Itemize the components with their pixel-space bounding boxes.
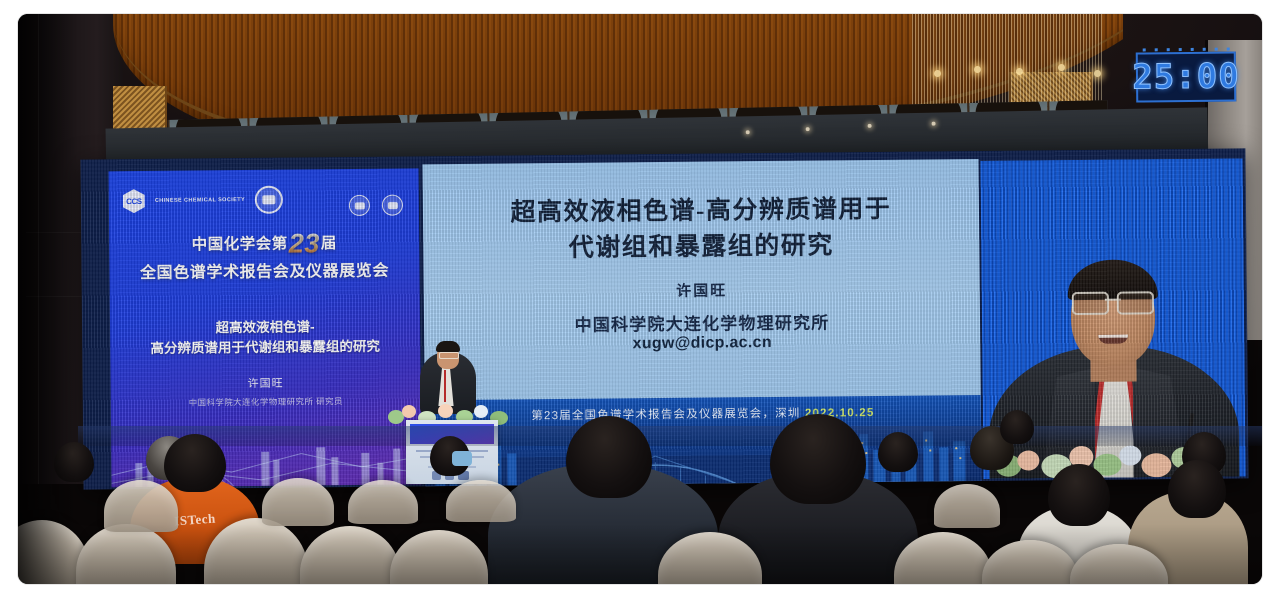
- audience-head: [1000, 410, 1034, 444]
- audience-head: [164, 434, 226, 492]
- audience-foreground: ISTech: [18, 404, 1262, 584]
- seat-back: [348, 480, 418, 524]
- timer-led-dots: [1138, 47, 1234, 51]
- audience-head: [878, 432, 918, 472]
- slide-title-line-1: 超高效液相色谱-高分辨质谱用于: [441, 191, 961, 231]
- image-frame: CCS Chinese Chemical Society 中国化学会第23届 全…: [0, 0, 1280, 598]
- conference-photograph: CCS Chinese Chemical Society 中国化学会第23届 全…: [18, 14, 1262, 584]
- institute-seal-icon: [382, 195, 403, 216]
- seat-back: [446, 480, 516, 522]
- poster-title-line-1: 中国化学会第23届: [109, 230, 419, 257]
- stage-floor-edge: [78, 426, 1262, 446]
- poster-title-prefix: 中国化学会第: [192, 236, 288, 254]
- audience-head: [770, 414, 866, 504]
- stage-speaker-lanyard: [444, 370, 446, 402]
- ccs-wordmark: Chinese Chemical Society: [155, 197, 245, 205]
- face-mask: [452, 451, 472, 466]
- society-seal-icon: [255, 186, 283, 214]
- poster-talk-title-line-2: 高分辨质谱用于代谢组和暴露组的研究: [118, 336, 412, 358]
- slide-author: 许国旺: [424, 277, 980, 303]
- slide-title: 超高效液相色谱-高分辨质谱用于 代谢组和暴露组的研究: [441, 191, 962, 267]
- seat-back: [300, 526, 400, 584]
- feed-background-banner-text: 报告学术会: [980, 158, 1245, 195]
- timer-value: 25:00: [1132, 56, 1240, 97]
- poster-title-suffix: 届: [321, 235, 337, 252]
- countdown-timer: 25:00: [1136, 51, 1237, 102]
- stage-speaker-hair: [436, 341, 460, 352]
- audience-head: [1048, 464, 1110, 526]
- poster-talk-title: 超高效液相色谱- 高分辨质谱用于代谢组和暴露组的研究: [118, 316, 412, 358]
- audience-head: [566, 416, 652, 498]
- audience-head: [54, 442, 94, 482]
- seat-back: [390, 530, 488, 584]
- speaker-glasses-icon: [1072, 291, 1154, 312]
- audience-head: [1168, 460, 1226, 518]
- poster-edition-number: 23: [288, 233, 321, 255]
- poster-title-line-2: 全国色谱学术报告会及仪器展览会: [109, 256, 419, 283]
- ccs-hexagon-logo-icon: CCS: [123, 189, 145, 213]
- slide-title-line-2: 代谢组和暴露组的研究: [441, 227, 961, 267]
- shirt-logo-text: ISTech: [174, 511, 217, 530]
- seat-back: [262, 478, 334, 526]
- chandelier-strands: [912, 14, 1102, 106]
- institute-seal-icon: [349, 195, 370, 216]
- poster-logos-top-left: CCS Chinese Chemical Society: [123, 186, 283, 216]
- stage-speaker-glasses-icon: [439, 352, 459, 359]
- poster-speaker-name: 许国旺: [111, 373, 421, 392]
- poster-logos-top-right: [349, 195, 403, 217]
